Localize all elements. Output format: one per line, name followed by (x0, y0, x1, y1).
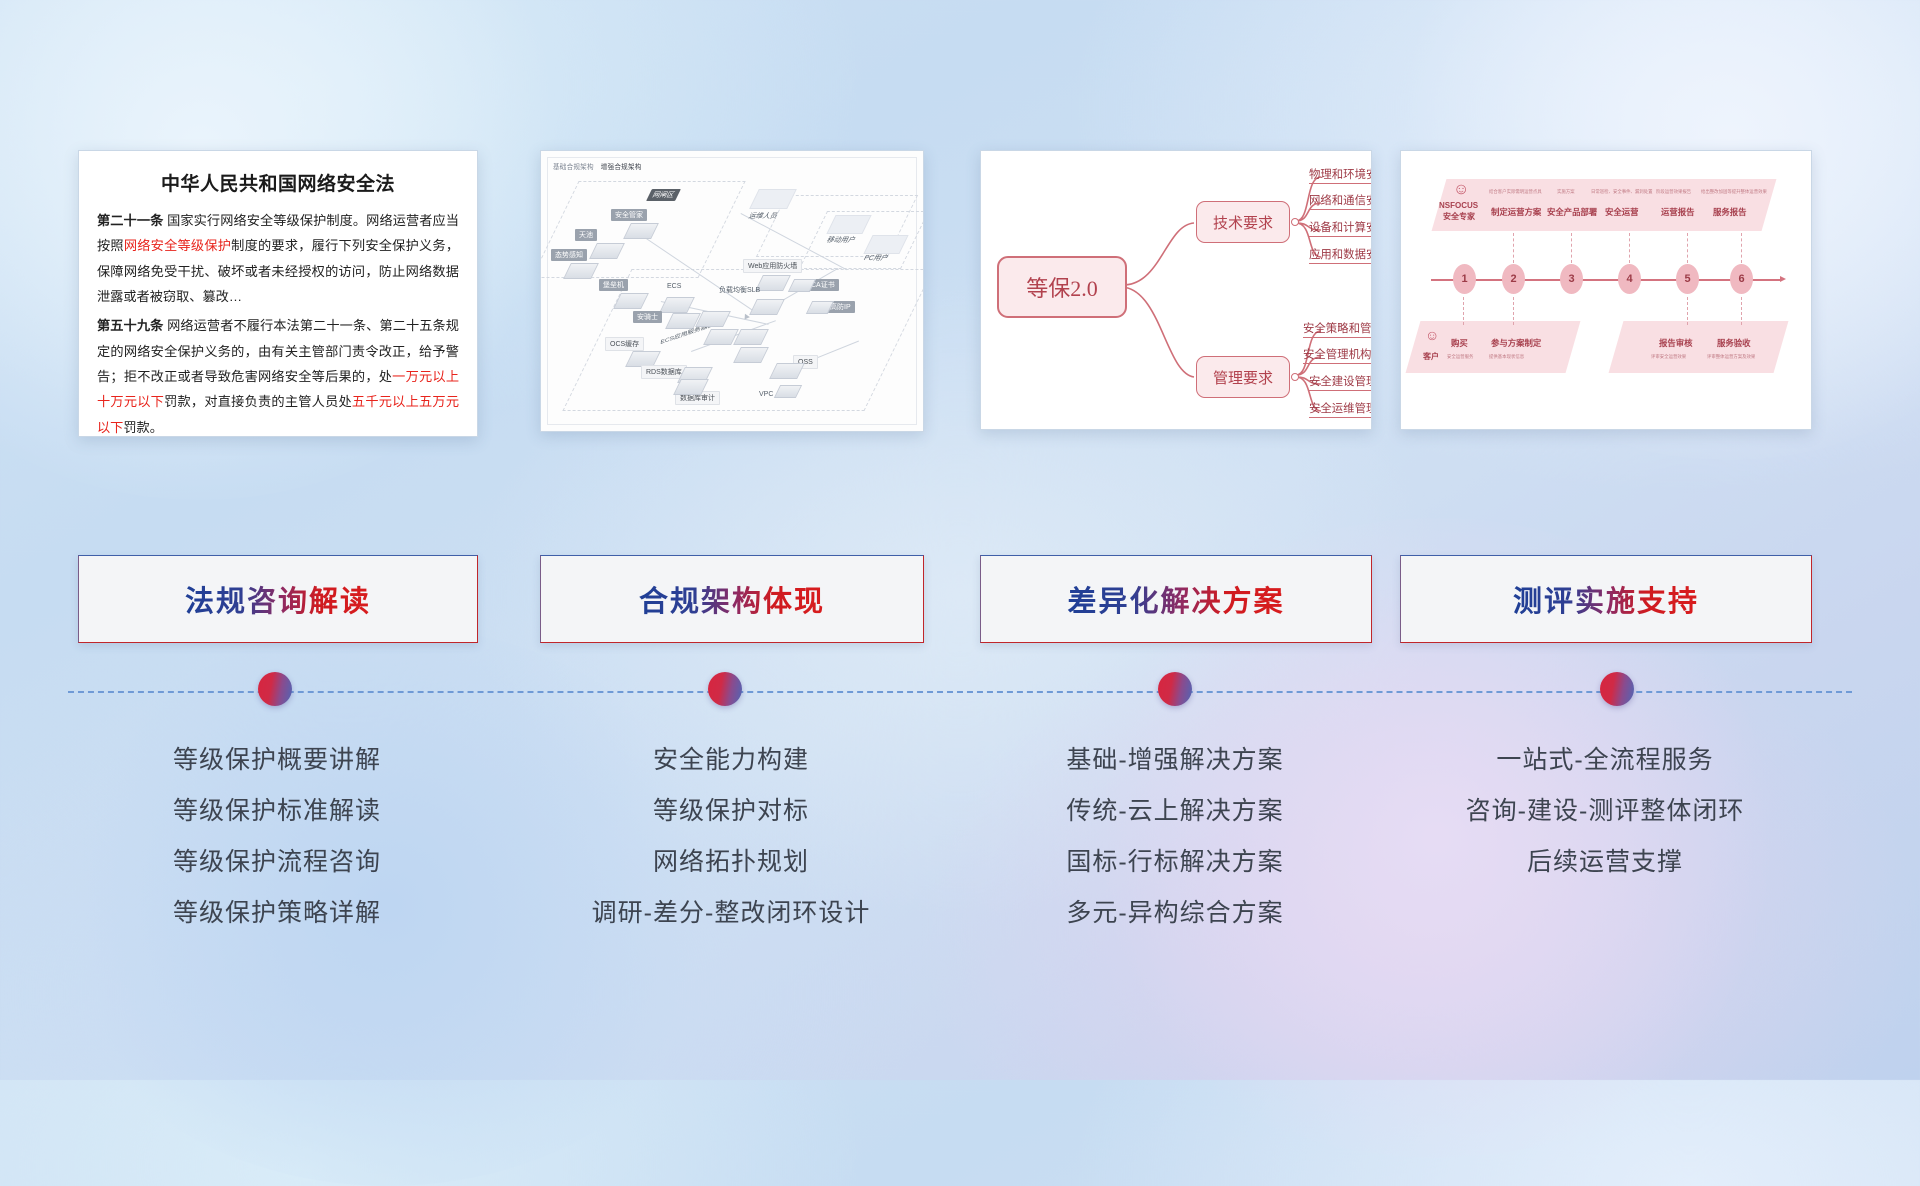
node-label-tianchi: 天池 (575, 229, 597, 241)
connector-dash-5 (1687, 233, 1688, 263)
title-box-compliance-architecture[interactable]: 合规架构体现 (540, 555, 924, 643)
timeline-dashed-line (68, 691, 1852, 693)
mindmap-leaf-network-comm: 网络和通信安全 (1309, 192, 1372, 210)
title-label-1: 法规咨询解读 (185, 578, 371, 620)
customer-role-label: 客户 (1423, 351, 1439, 362)
mindmap-leaf-policy-system: 安全策略和管理制度 (1303, 320, 1372, 338)
list-item: 等级保护标准解读 (78, 786, 476, 837)
mindmap-leaf-app-data: 应用和数据安全 (1309, 246, 1372, 264)
mindmap-root: 等保2.0 (997, 256, 1127, 318)
law-title: 中华人民共和国网络安全法 (97, 169, 459, 196)
expert-role-label: 安全专家 (1443, 211, 1475, 222)
list-item: 咨询-建设-测评整体闭环 (1400, 786, 1810, 837)
connector-dash-4 (1629, 233, 1630, 263)
bottom-step-sub-3: 评审安全运营效果 (1651, 354, 1686, 360)
mindmap-branch-management: 管理要求 (1196, 356, 1290, 398)
list-item: 网络拓扑规划 (540, 837, 922, 888)
law-article-59-mid: 罚款，对直接负责的主管人员处 (164, 394, 352, 409)
step-sub-5: 给出整改加固等提升整体运营效果 (1701, 189, 1767, 195)
step-title-4: 运营报告 (1661, 206, 1695, 218)
node-label-vpc: VPC (759, 391, 773, 398)
law-document: 中华人民共和国网络安全法 第二十一条 国家实行网络安全等级保护制度。网络运营者应… (79, 151, 477, 436)
connector-dash-b3 (1687, 297, 1688, 325)
step-number-6: 6 (1730, 264, 1753, 294)
node-label-waf: Web应用防火墙 (743, 259, 802, 273)
list-item: 等级保护概要讲解 (78, 735, 476, 786)
timeline-dot-2[interactable] (708, 672, 742, 706)
list-item: 基础-增强解决方案 (980, 735, 1370, 786)
step-number-3: 3 (1560, 264, 1583, 294)
step-title-5: 服务报告 (1713, 206, 1747, 218)
tab-enhanced-architecture: 增强合规架构 (601, 164, 642, 171)
connector-dash-b1 (1463, 297, 1464, 325)
title-boxes-row: 法规咨询解读 合规架构体现 差异化解决方案 测评实施支持 (0, 555, 1920, 645)
node-label-pc-user: PC用户 (862, 255, 889, 262)
detail-list-2: 安全能力构建 等级保护对标 网络拓扑规划 调研-差分-整改闭环设计 (540, 735, 922, 939)
step-title-1: 制定运营方案 (1491, 206, 1541, 218)
title-label-2: 合规架构体现 (639, 578, 825, 620)
title-box-assessment-support[interactable]: 测评实施支持 (1400, 555, 1812, 643)
tab-basic-architecture: 基础合规架构 (553, 164, 594, 171)
node-label-slb: 负载均衡SLB (719, 287, 760, 294)
architecture-diagram: 基础合规架构增强合规架构 网闸区 安全管家 天池 态势感知 堡垒机 (541, 151, 923, 431)
title-box-regulation-consulting[interactable]: 法规咨询解读 (78, 555, 478, 643)
mindmap-collapse-dot-technical[interactable] (1291, 218, 1299, 226)
bottom-step-title-3: 报告审核 (1659, 337, 1693, 349)
list-item: 一站式-全流程服务 (1400, 735, 1810, 786)
step-number-1: 1 (1453, 264, 1476, 294)
timeline-strip (0, 688, 1920, 696)
bottom-step-title-2: 参与方案制定 (1491, 337, 1541, 349)
detail-list-1: 等级保护概要讲解 等级保护标准解读 等级保护流程咨询 等级保护策略详解 (78, 735, 476, 939)
mindmap-branch-technical: 技术要求 (1196, 201, 1290, 243)
step-number-2: 2 (1502, 264, 1525, 294)
timeline-dot-4[interactable] (1600, 672, 1634, 706)
node-label-bastion-host: 堡垒机 (599, 279, 628, 291)
step-sub-1: 结合客户实际需明运营点具 (1489, 189, 1542, 195)
step-number-4: 4 (1618, 264, 1641, 294)
card-nsfocus-service-flow: ☺ NSFOCUS 安全专家 结合客户实际需明运营点具 制定运营方案 实施方案 … (1400, 150, 1812, 430)
step-sub-2: 实施方案 (1557, 189, 1575, 195)
node-label-ecs: ECS (667, 283, 681, 290)
law-article-21: 第二十一条 国家实行网络安全等级保护制度。网络运营者应当按照网络安全等级保护制度… (97, 208, 459, 309)
mindmap-collapse-dot-management[interactable] (1291, 373, 1299, 381)
timeline-axis (1431, 279, 1781, 281)
connector-dash-b4 (1741, 297, 1742, 325)
detail-lists-row: 等级保护概要讲解 等级保护标准解读 等级保护流程咨询 等级保护策略详解 安全能力… (0, 735, 1920, 965)
step-sub-3: 日常巡检、安全事件、漏洞处置 (1591, 189, 1652, 195)
title-label-3: 差异化解决方案 (1067, 578, 1284, 620)
connector-dash-b2 (1513, 297, 1514, 325)
band-customer-right (1609, 321, 1789, 373)
node-label-security-butler: 安全管家 (611, 209, 647, 221)
node-label-situational-awareness: 态势感知 (551, 249, 587, 261)
list-item: 调研-差分-整改闭环设计 (540, 888, 922, 939)
list-item: 等级保护对标 (540, 786, 922, 837)
expert-person-icon: ☺ (1453, 181, 1469, 199)
list-item: 后续运营支撑 (1400, 837, 1810, 888)
list-item: 传统-云上解决方案 (980, 786, 1370, 837)
node-label-ops-staff: 运维人员 (747, 213, 778, 220)
law-article-21-highlight: 网络安全等级保护 (124, 238, 231, 253)
bottom-step-sub-1: 安全运营服务 (1447, 354, 1473, 360)
diagram-tabs: 基础合规架构增强合规架构 (553, 161, 649, 171)
detail-list-4: 一站式-全流程服务 咨询-建设-测评整体闭环 后续运营支撑 (1400, 735, 1810, 888)
mindmap-leaf-ops-mgmt: 安全运维管理 (1309, 400, 1372, 418)
step-sub-4: 阶段运营效果报告 (1656, 189, 1691, 195)
mindmap-leaf-physical-env: 物理和环境安全 (1309, 166, 1372, 184)
expert-brand-label: NSFOCUS (1439, 201, 1478, 210)
step-title-3: 安全运营 (1605, 206, 1639, 218)
connector-dash-6 (1741, 233, 1742, 263)
timeline-dot-1[interactable] (258, 672, 292, 706)
band-expert-track (1432, 179, 1777, 231)
card-compliance-architecture: 基础合规架构增强合规架构 网闸区 安全管家 天池 态势感知 堡垒机 (540, 150, 924, 432)
mindmap-leaf-device-compute: 设备和计算安全 (1309, 219, 1372, 237)
node-label-mobile-user: 移动用户 (825, 237, 856, 244)
node-label-ocs-cache: OCS缓存 (605, 337, 644, 351)
connector-dash-2 (1513, 233, 1514, 263)
title-box-differentiated-solution[interactable]: 差异化解决方案 (980, 555, 1372, 643)
list-item: 等级保护策略详解 (78, 888, 476, 939)
nsfocus-timeline: ☺ NSFOCUS 安全专家 结合客户实际需明运营点具 制定运营方案 实施方案 … (1401, 151, 1811, 429)
title-label-4: 测评实施支持 (1513, 578, 1699, 620)
list-item: 等级保护流程咨询 (78, 837, 476, 888)
bottom-step-title-1: 购买 (1451, 337, 1468, 349)
bottom-step-title-4: 服务验收 (1717, 337, 1751, 349)
list-item: 国标-行标解决方案 (980, 837, 1370, 888)
detail-list-3: 基础-增强解决方案 传统-云上解决方案 国标-行标解决方案 多元-异构综合方案 (980, 735, 1370, 939)
list-item: 安全能力构建 (540, 735, 922, 786)
customer-person-icon: ☺ (1425, 327, 1439, 343)
law-article-59: 第五十九条 网络运营者不履行本法第二十一条、第二十五条规定的网络安全保护义务的，… (97, 313, 459, 437)
node-label-gateway: 网闸区 (646, 189, 681, 201)
mindmap-leaf-construction-mgmt: 安全建设管理 (1309, 373, 1372, 391)
card-mindmap-dengbao: 等保2.0 技术要求 管理要求 物理和环境安全 网络和通信安全 设备和计算安全 … (980, 150, 1372, 430)
step-number-5: 5 (1676, 264, 1699, 294)
card-cybersecurity-law: 中华人民共和国网络安全法 第二十一条 国家实行网络安全等级保护制度。网络运营者应… (78, 150, 478, 437)
law-article-59-post: 罚款。 (123, 420, 163, 435)
node-label-anqishi: 安骑士 (633, 311, 662, 323)
bottom-step-sub-4: 评审整体运营方案及效果 (1707, 354, 1755, 360)
law-article-59-label: 第五十九条 (97, 318, 163, 333)
cards-row: 中华人民共和国网络安全法 第二十一条 国家实行网络安全等级保护制度。网络运营者应… (0, 150, 1920, 450)
bottom-step-sub-2: 提供基本现状信息 (1489, 354, 1524, 360)
list-item: 多元-异构综合方案 (980, 888, 1370, 939)
connector-dash-3 (1571, 233, 1572, 263)
mindmap-leaf-org-personnel: 安全管理机构和人员 (1303, 346, 1372, 364)
mindmap: 等保2.0 技术要求 管理要求 物理和环境安全 网络和通信安全 设备和计算安全 … (981, 151, 1371, 429)
law-article-21-label: 第二十一条 (97, 213, 163, 228)
timeline-dot-3[interactable] (1158, 672, 1192, 706)
step-title-2: 安全产品部署 (1547, 206, 1597, 218)
